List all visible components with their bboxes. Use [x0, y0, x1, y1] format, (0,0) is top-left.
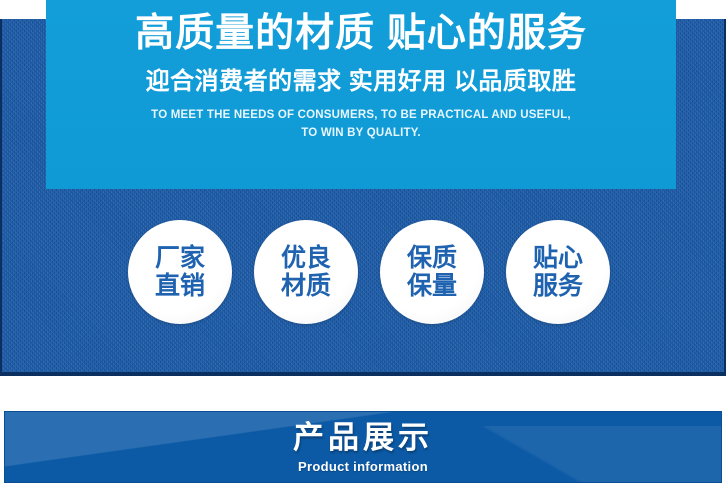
hero-content: 高质量的材质 贴心的服务 迎合消费者的需求 实用好用 以品质取胜 TO MEET…	[46, 9, 676, 142]
badge-line-1: 贴心	[533, 244, 583, 272]
hero-panel: 高质量的材质 贴心的服务 迎合消费者的需求 实用好用 以品质取胜 TO MEET…	[46, 0, 676, 189]
badge-line-1: 保质	[407, 244, 457, 272]
badge-line-1: 厂家	[155, 244, 205, 272]
top-left-notch	[0, 0, 46, 19]
hero-english-text: TO MEET THE NEEDS OF CONSUMERS, TO BE PR…	[46, 106, 676, 142]
feature-badge-attentive-service: 贴心 服务	[506, 220, 610, 324]
feature-badge-guaranteed-quality: 保质 保量	[380, 220, 484, 324]
feature-badge-quality-material: 优良 材质	[254, 220, 358, 324]
hero-english-line-2: TO WIN BY QUALITY.	[46, 124, 676, 142]
feature-badge-row: 厂家 直销 优良 材质 保质 保量 贴心 服务	[128, 220, 610, 324]
product-showcase-banner: 产品展示 Product information	[4, 411, 722, 483]
badge-line-1: 优良	[281, 244, 331, 272]
product-banner-title: 产品展示	[5, 420, 721, 456]
hero-english-line-1: TO MEET THE NEEDS OF CONSUMERS, TO BE PR…	[46, 106, 676, 124]
hero-subtitle: 迎合消费者的需求 实用好用 以品质取胜	[46, 65, 676, 99]
feature-badge-factory-direct: 厂家 直销	[128, 220, 232, 324]
product-banner-subtitle: Product information	[5, 458, 721, 476]
badge-line-2: 保量	[407, 272, 457, 300]
badge-line-2: 服务	[533, 272, 583, 300]
top-right-notch	[680, 0, 726, 19]
promo-banner-page: 高质量的材质 贴心的服务 迎合消费者的需求 实用好用 以品质取胜 TO MEET…	[0, 0, 726, 487]
product-banner-content: 产品展示 Product information	[5, 412, 721, 476]
badge-line-2: 直销	[155, 272, 205, 300]
hero-title: 高质量的材质 贴心的服务	[46, 9, 676, 59]
badge-line-2: 材质	[281, 272, 331, 300]
